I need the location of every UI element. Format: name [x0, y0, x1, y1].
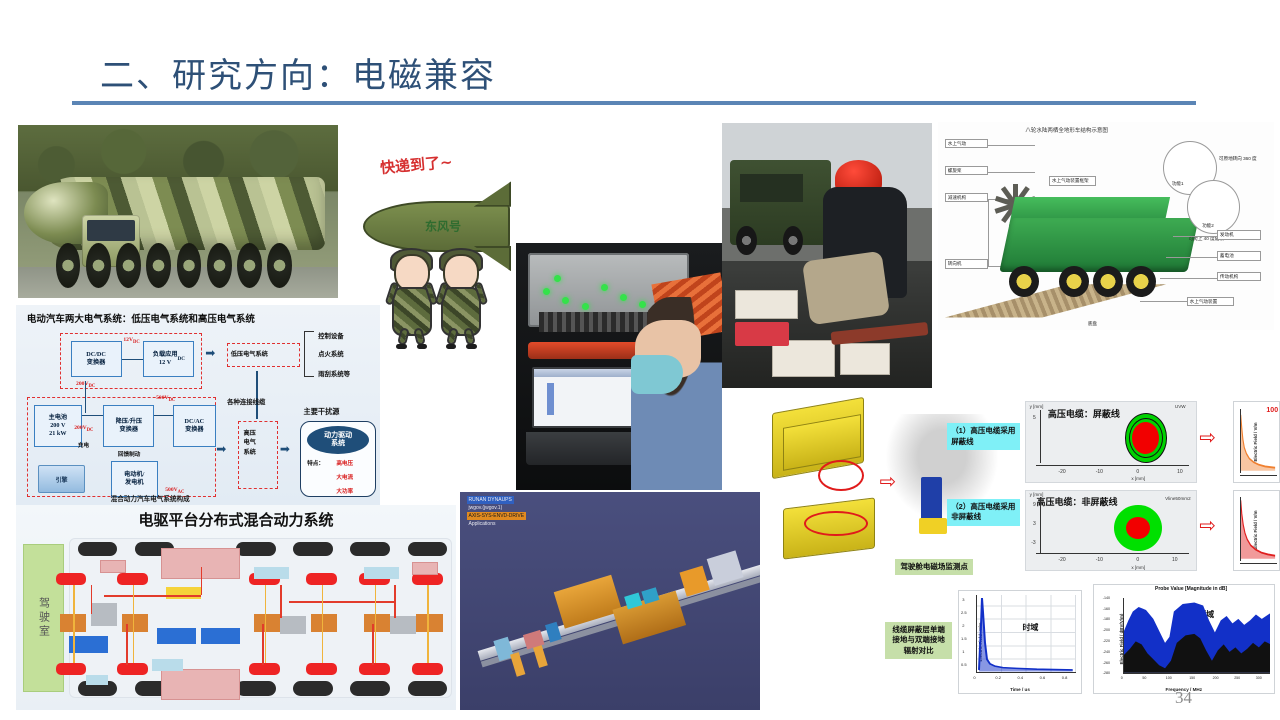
vehicle-wheel	[1059, 266, 1089, 297]
dcdc-converter-block: DC/DC变换器	[71, 341, 122, 377]
aux-unit	[152, 659, 183, 671]
callout-grounding-compare: 线缆屏蔽层单端接地与双端接地辐射对比	[885, 622, 953, 660]
wheel-motor	[412, 663, 443, 675]
tire	[350, 681, 390, 695]
tire	[408, 681, 448, 695]
xtick: 0.8	[1062, 675, 1068, 680]
ytick: 1.5	[961, 636, 967, 641]
label-steering: 转向机	[945, 259, 989, 269]
xlabel-time-domain: Time / us	[1010, 687, 1030, 692]
wheel-motor	[56, 663, 87, 675]
dcdc-unit	[412, 562, 438, 574]
ytick: 0.5	[961, 662, 967, 667]
label-reducer: 减速机构	[945, 193, 989, 203]
tire	[293, 542, 333, 556]
drive-system-oval: 动力驱动系统	[307, 426, 369, 454]
motor-controller	[254, 614, 280, 632]
missile-transporter-photo	[18, 125, 338, 298]
voltage-200v-b: 200VDC	[74, 425, 93, 433]
corner-label-unshielded: Vline50mm2	[1165, 496, 1191, 501]
main-interference-label: 主要干扰源	[304, 407, 340, 417]
label-transmission: 传动机构	[1217, 272, 1261, 282]
arrow-to-lv-system: ➡	[205, 347, 215, 359]
power-distribution-unit	[166, 587, 201, 599]
wheel-motor	[359, 663, 390, 675]
wheel-motor	[56, 573, 87, 585]
soldier-boot-right	[466, 344, 477, 349]
callout-2-title: 功能2	[1200, 222, 1216, 230]
tire	[408, 542, 448, 556]
ylabel-unshielded: y [mm]	[1030, 492, 1044, 497]
voltage-12v-label: 12VDC	[123, 337, 139, 345]
xlabel-unshielded: x [mm]	[1131, 565, 1145, 570]
distributed-hybrid-powertrain-diagram: 电驱平台分布式混合动力系统 驾驶室	[16, 505, 456, 710]
time-domain-plot-area	[976, 595, 1077, 672]
plot-title-shielded: 高压电缆：屏蔽线	[1048, 407, 1120, 420]
hybrid-diagram-heading: 电驱平台分布式混合动力系统	[138, 509, 333, 530]
engineer-legs	[802, 250, 890, 324]
callout-shielded-cable: （1）高压电缆采用屏蔽线	[947, 423, 1020, 450]
motor-controller	[311, 614, 337, 632]
wheel-motor	[306, 663, 337, 675]
motor-generator-block: 电动机/发电机	[111, 461, 158, 497]
ytick: -220	[1103, 639, 1110, 643]
xtick: -10	[1096, 557, 1103, 563]
air-compressor	[86, 675, 108, 685]
amphibious-footer: 底盘	[1086, 320, 1099, 328]
lv-consumer-1: 控制设备	[318, 331, 344, 340]
wheel-motor	[306, 573, 337, 585]
ev-diagram-footer: 混合动力汽车电气系统构成	[111, 493, 190, 503]
lv-consumer-3: 雨刮系统等	[318, 369, 350, 378]
ev-diagram-heading: 电动汽车两大电气系统：低压电气系统和高压电气系统	[27, 311, 255, 325]
ytick: -200	[1103, 628, 1110, 632]
cables-label: 各种连接线缆	[227, 397, 265, 406]
soldier-torso	[441, 287, 480, 336]
ytick: 9	[1033, 502, 1036, 508]
field-test-photo	[722, 123, 932, 388]
plot-title-unshielded: 高压电缆：非屏蔽线	[1037, 495, 1118, 508]
soldier-arm-left	[434, 281, 449, 305]
xtick: 10	[1177, 469, 1183, 475]
xtick: 250	[1234, 676, 1240, 680]
title-divider	[72, 101, 1196, 105]
apu-group-1	[161, 669, 240, 700]
amphibious-vehicle-diagram: 八轮水陆两栖全地形车结构示意图 水上气动 螺旋桨 减速机构 转向机 水上气动装置…	[938, 122, 1274, 330]
cad-chassis-assembly	[463, 516, 783, 710]
ytick: -180	[1103, 617, 1110, 621]
in-vehicle-measurement-photo	[516, 243, 722, 490]
cable-bundle-3d	[921, 477, 942, 521]
vehicle-wheel	[1009, 266, 1039, 297]
buck-boost-converter-block: 降压/升压变换器	[103, 405, 154, 447]
motor-controller	[364, 614, 390, 632]
label-battery: 蓄电池	[1217, 251, 1261, 261]
cable-terminals	[919, 518, 948, 534]
amphibious-diagram-title: 八轮水陆两栖全地形车结构示意图	[1025, 126, 1108, 134]
soldier-arm-right	[473, 281, 488, 305]
wheel-motor	[117, 573, 148, 585]
xtick: -10	[1096, 469, 1103, 475]
vehicle-wheel	[1126, 266, 1156, 297]
xtick: -20	[1058, 469, 1065, 475]
chart-time-domain: 时域 Electric Field / V/m Time / us 3 2.5 …	[958, 590, 1083, 694]
energy-storage-unit	[157, 628, 197, 644]
slide-canvas: 二、研究方向：电磁兼容 快递到了~ 东风号	[0, 0, 1280, 720]
ev-electrical-system-diagram: 电动汽车两大电气系统：低压电气系统和高压电气系统 DC/DC变换器 负载应用12…	[16, 305, 380, 505]
ytick: 1	[962, 649, 964, 654]
soldier-boot-left	[446, 344, 457, 349]
callout-1-title: 功能1	[1170, 180, 1186, 188]
chart-efield-unshielded: Electric Field / V/m	[1233, 490, 1280, 572]
tire	[236, 542, 276, 556]
steering-pump-motor	[254, 567, 289, 579]
highlight-ellipse-motor	[818, 460, 864, 491]
face-mask	[631, 355, 682, 394]
feature-high-current: 大电流	[336, 473, 353, 481]
xtick: 0.4	[1018, 675, 1024, 680]
hv-system-label: 高压电气系统	[244, 429, 256, 457]
arrow-hv-to-drive: ➡	[280, 443, 290, 455]
callout-unshielded-cable: （2）高压电缆采用非屏蔽线	[947, 499, 1020, 526]
laptop-screen	[532, 367, 639, 428]
feature-high-voltage: 高电压	[336, 459, 353, 467]
xtick: 0.6	[1040, 675, 1046, 680]
equipment-box	[840, 343, 890, 375]
wheel-motor	[249, 663, 280, 675]
engine-block: 引擎	[38, 465, 85, 493]
cad-tree-item[interactable]: AXIS-SYS-ENVD-DRIVE	[467, 512, 527, 520]
xlabel-shielded: x [mm]	[1131, 476, 1145, 481]
ytick: -240	[1103, 650, 1110, 654]
dcac-converter-block: DC/AC变换器	[173, 405, 217, 447]
laptop	[532, 367, 639, 466]
xtick: 50	[1142, 676, 1146, 680]
voltage-500vdc: 500VDC	[156, 395, 175, 403]
ytick: 3	[962, 597, 964, 602]
ytick: 3	[1033, 521, 1036, 527]
tire	[350, 542, 390, 556]
label-water-jet: 水上气动	[945, 139, 989, 149]
lv-consumer-2: 点火系统	[318, 349, 344, 358]
xtick: 150	[1189, 676, 1195, 680]
soldier-torso	[392, 287, 431, 336]
ytick: 2	[962, 623, 964, 628]
lv-consumer-brace	[304, 331, 315, 377]
driver-cab-label: 驾驶室	[35, 597, 51, 639]
soldier-boot-right	[417, 344, 428, 349]
xtick: 0	[1136, 469, 1139, 475]
xtick: 10	[1172, 557, 1178, 563]
energy-storage-unit	[201, 628, 241, 644]
page-title: 二、研究方向：电磁兼容	[100, 48, 496, 97]
arrow-right-icon: ⇨	[1199, 515, 1216, 535]
rocket-fin-top	[474, 181, 511, 206]
laptop-keyboard	[526, 432, 646, 466]
truck-wheel	[736, 226, 756, 255]
lv-hv-link	[256, 371, 258, 419]
cad-tree-item[interactable]: RUNAN DYNAUPS	[467, 496, 514, 504]
page-number: 34	[1175, 688, 1192, 708]
ytick: 2.5	[961, 610, 967, 615]
cartoon-rocket: 东风号	[363, 201, 511, 252]
corner-label-shielded: UVW	[1175, 404, 1186, 409]
freq-domain-header: Probe Value [Magnitude in dB]	[1155, 586, 1227, 592]
chart-efield-shielded: Electric Field / V/m 100	[1233, 401, 1280, 483]
rocket-label: 东风号	[425, 218, 461, 235]
chassis-cad-model: RUNAN DYNAUPS jwgov.(jwgov.1) AXIS-SYS-E…	[460, 492, 786, 710]
cable-conductor	[1126, 517, 1150, 539]
dcdc-unit	[100, 560, 126, 572]
soldier-arm-left	[385, 281, 400, 305]
ytick: -3	[1031, 540, 1035, 546]
ytick: -280	[1103, 671, 1110, 675]
ylabel-shielded: y [mm]	[1030, 404, 1044, 409]
xtick: 0	[1121, 676, 1123, 680]
vehicle-control-unit	[91, 603, 117, 626]
charge-label: 充电	[78, 441, 89, 449]
highlight-ellipse-cabin	[804, 511, 868, 536]
xtick: 100	[1166, 676, 1172, 680]
tire	[78, 542, 118, 556]
ytick: -260	[1103, 661, 1110, 665]
cad-tree-item[interactable]: jwgov.(jwgov.1)	[467, 504, 505, 512]
xtick: 200	[1213, 676, 1219, 680]
arrow-dcdc-to-load	[122, 359, 144, 360]
tire	[293, 681, 333, 695]
vehicle-control-unit	[390, 616, 416, 634]
plot-shielded-cross-section: 高压电缆：屏蔽线 y [mm] UVW x [mm] -20 -10 0 10 …	[1025, 401, 1197, 483]
feature-high-power: 大功率	[336, 487, 353, 495]
regen-label: 回馈制动	[118, 450, 140, 458]
vehicle-wheel	[1093, 266, 1123, 297]
label-engine: 发动机	[1217, 230, 1261, 240]
equipment-box	[735, 290, 798, 319]
plot-unshielded-cross-section: 高压电缆：非屏蔽线 y [mm] Vline50mm2 x [mm] -20 -…	[1025, 490, 1197, 572]
cartoon-soldier-left	[387, 248, 436, 358]
arrow-right-icon: ⇨	[880, 471, 897, 491]
callout-1-text: 可原地转向 360 度	[1217, 155, 1259, 163]
arrow-right-icon: ⇨	[1199, 427, 1216, 447]
vehicle-control-unit	[280, 616, 306, 634]
cad-spec-tree: RUNAN DYNAUPS jwgov.(jwgov.1) AXIS-SYS-E…	[467, 496, 527, 528]
lv-system-label: 低压电气系统	[231, 349, 268, 358]
tire	[236, 681, 276, 695]
ac-compressor	[364, 567, 399, 579]
researcher	[631, 297, 722, 490]
cartoon-soldier-right	[436, 248, 485, 358]
xtick: 0.2	[995, 675, 1001, 680]
label-frame: 水上气动装置框架	[1049, 176, 1096, 186]
xtick: 300	[1256, 676, 1262, 680]
arrow-to-hv-system: ➡	[216, 443, 226, 455]
truck-wheel	[783, 226, 803, 255]
label-water-device: 水上气动装置	[1187, 297, 1234, 307]
emc-cable-shielding-analysis: ⇨ （1）高压电缆采用屏蔽线 （2）高压电缆采用非屏蔽线 驾驶舱电磁场监测点 线…	[760, 395, 1280, 710]
ytick: -140	[1103, 596, 1110, 600]
ytick: 5	[1033, 415, 1036, 421]
motor-controller	[416, 614, 442, 632]
multimeter	[735, 322, 790, 346]
xtick: 0	[973, 675, 975, 680]
features-label: 特点：	[307, 459, 324, 467]
vehicle-hull	[999, 218, 1199, 272]
cad-tree-item[interactable]: Applications	[467, 520, 498, 528]
xtick: 0	[1136, 557, 1139, 563]
wheel-motor	[117, 663, 148, 675]
freq-domain-plot-area	[1123, 598, 1271, 674]
military-truck	[730, 160, 831, 245]
soldier-boot-left	[396, 344, 407, 349]
label-propeller: 螺旋桨	[945, 166, 989, 176]
ytick: -160	[1103, 607, 1110, 611]
chart-frequency-domain: Probe Value [Magnitude in dB] 频域 Electri…	[1093, 584, 1275, 694]
speech-text: 快递到了~	[379, 151, 453, 178]
xtick: -20	[1058, 557, 1065, 563]
energy-storage-unit	[69, 636, 109, 652]
equipment-box	[772, 340, 835, 377]
callout-cabin-monitor-point: 驾驶舱电磁场监测点	[895, 559, 973, 576]
load-application-block: 负载应用12 VDC	[143, 341, 194, 377]
wheel-group	[50, 243, 325, 288]
